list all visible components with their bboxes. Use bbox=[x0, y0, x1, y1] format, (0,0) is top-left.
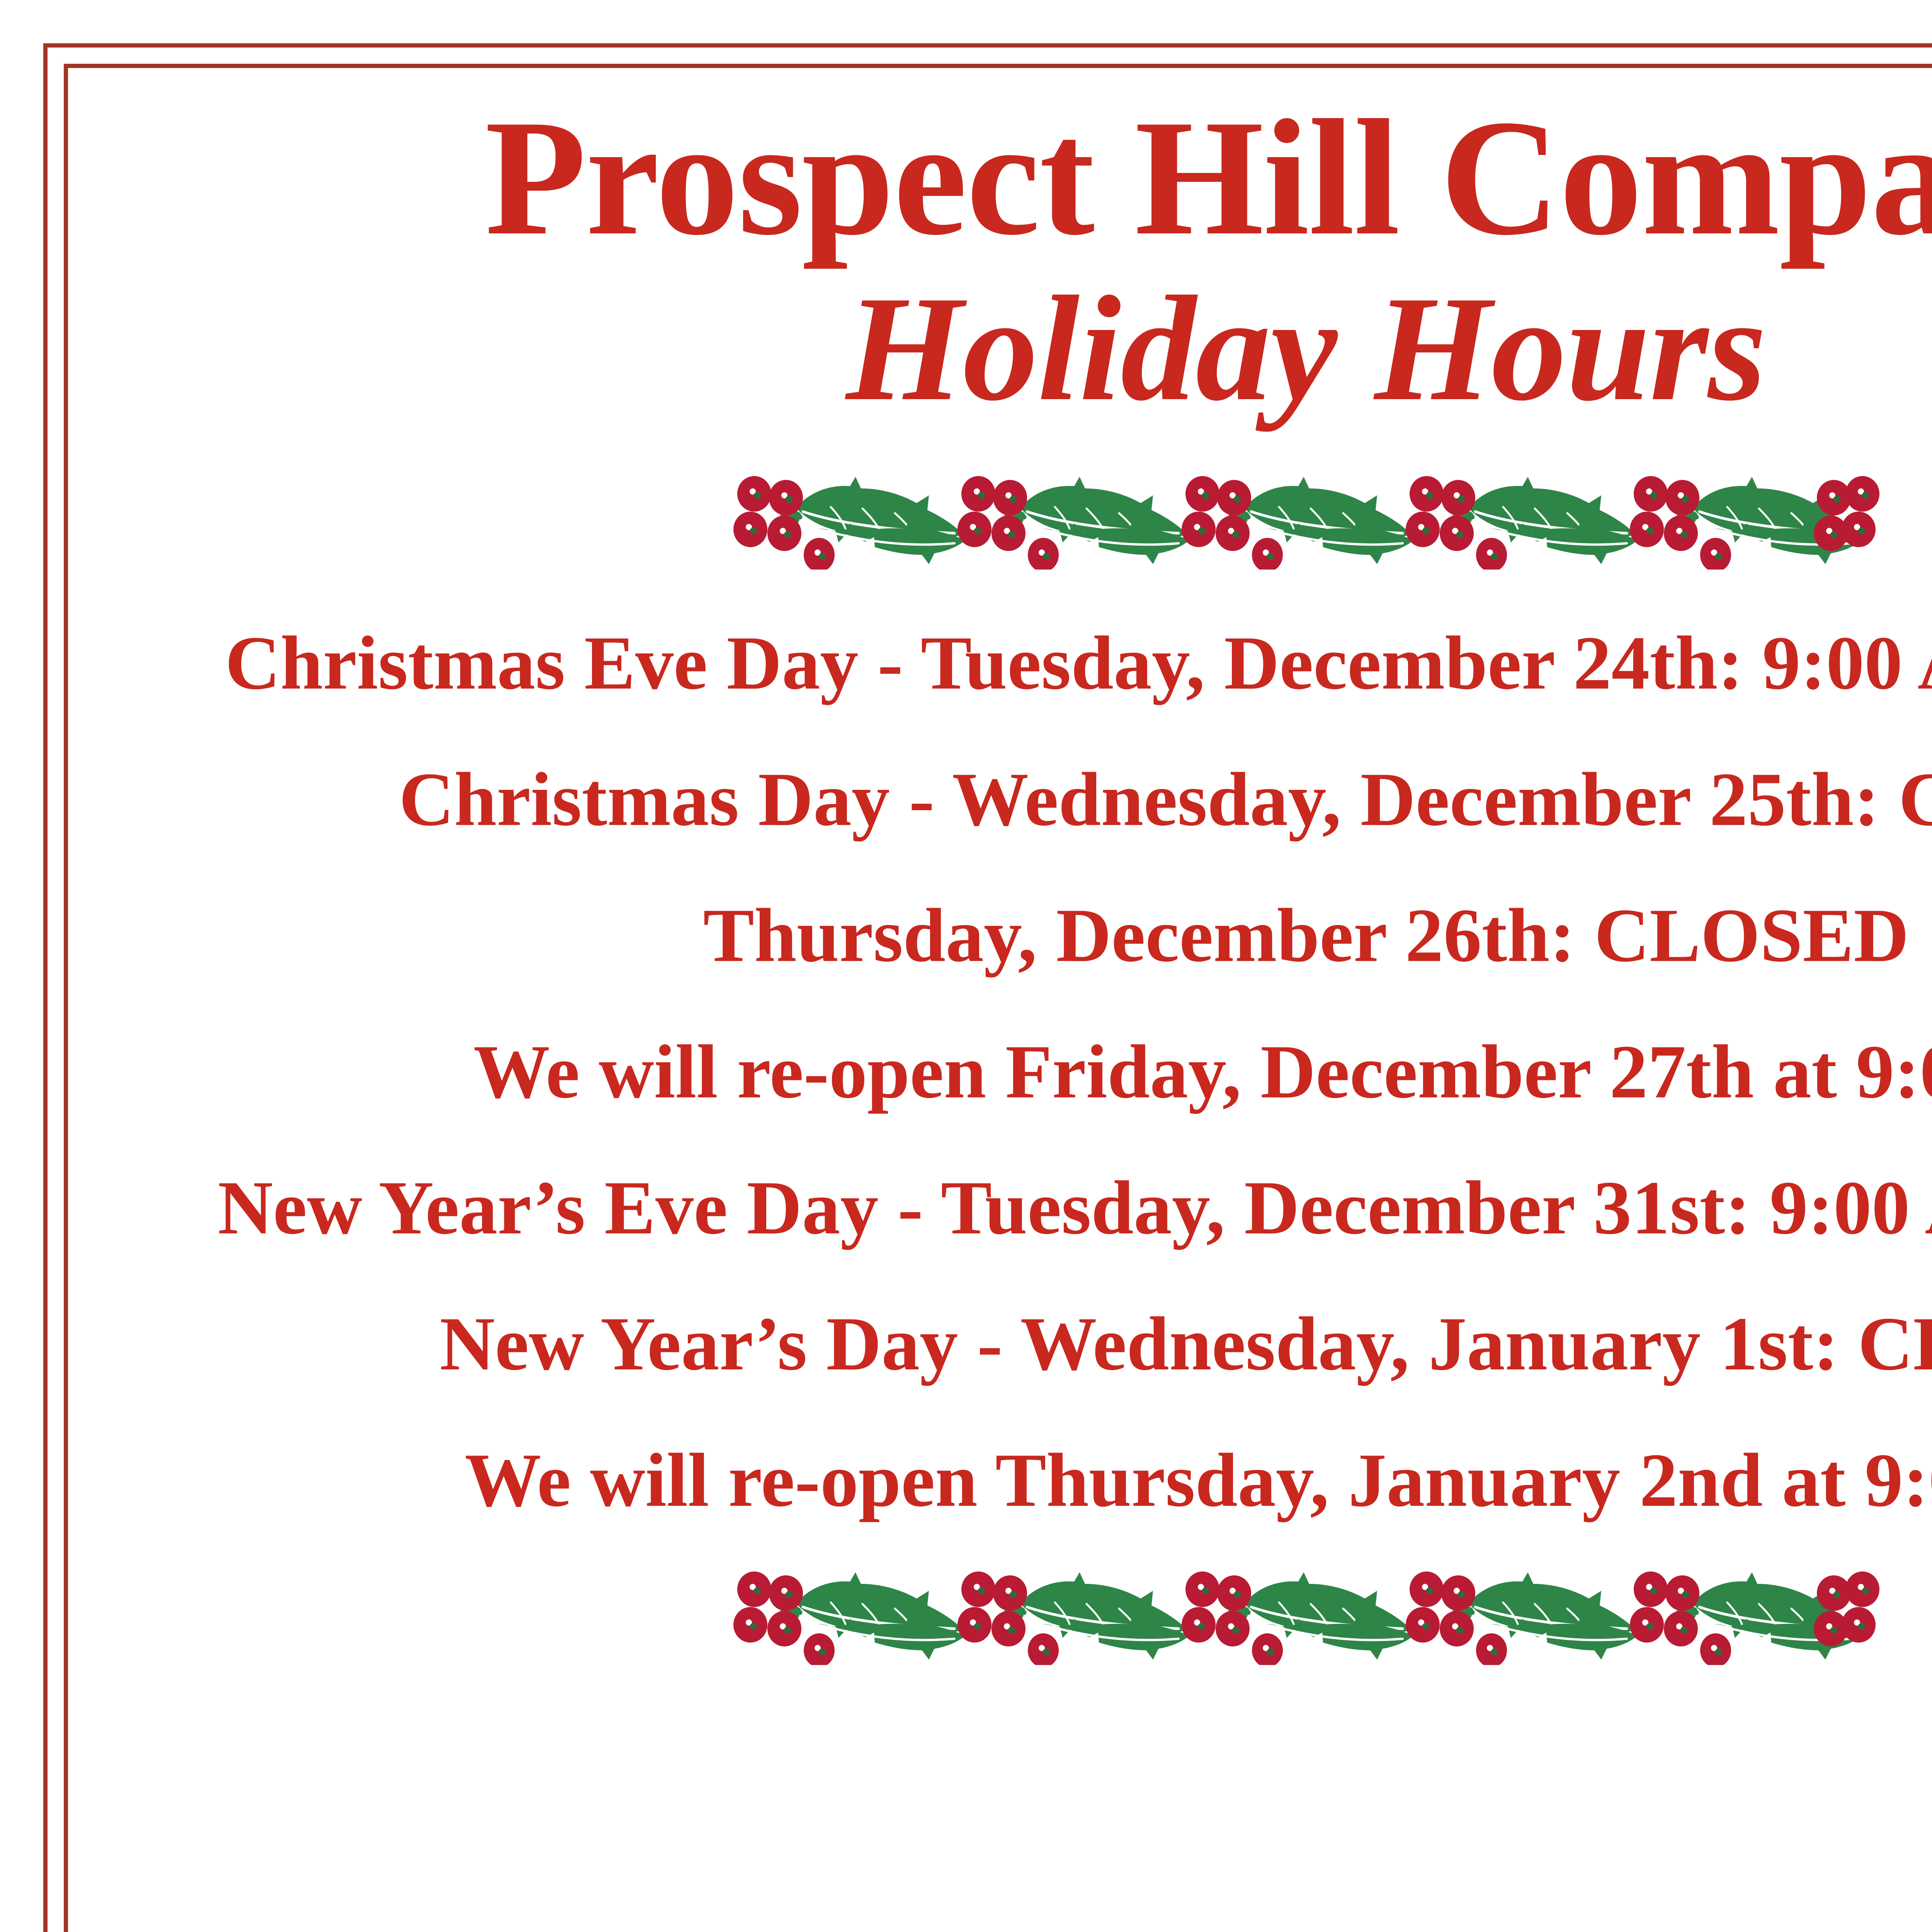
hours-line: We will re-open Thursday, January 2nd at… bbox=[48, 1412, 1932, 1548]
hours-line: New Year’s Day - Wednesday, January 1st:… bbox=[48, 1276, 1932, 1412]
hours-line: We will re-open Friday, December 27th at… bbox=[48, 1004, 1932, 1140]
sign-content: Prospect Hill Company Holiday Hours bbox=[48, 48, 1932, 1932]
hours-line: Thursday, December 26th: CLOSED bbox=[48, 867, 1932, 1003]
page-title: Prospect Hill Company bbox=[48, 93, 1932, 263]
hours-line: Christmas Day - Wednesday, December 25th… bbox=[48, 731, 1932, 867]
page-subtitle: Holiday Hours bbox=[48, 263, 1932, 435]
holly-garland-icon-bottom bbox=[730, 1568, 1882, 1665]
sign-border-outer: Prospect Hill Company Holiday Hours bbox=[43, 43, 1932, 1932]
hours-line: Christmas Eve Day - Tuesday, December 24… bbox=[48, 595, 1932, 731]
holly-garland-icon-top bbox=[730, 473, 1882, 570]
headline-block: Prospect Hill Company Holiday Hours bbox=[48, 93, 1932, 434]
hours-list: Christmas Eve Day - Tuesday, December 24… bbox=[48, 595, 1932, 1548]
hours-line: New Year’s Eve Day - Tuesday, December 3… bbox=[48, 1140, 1932, 1276]
